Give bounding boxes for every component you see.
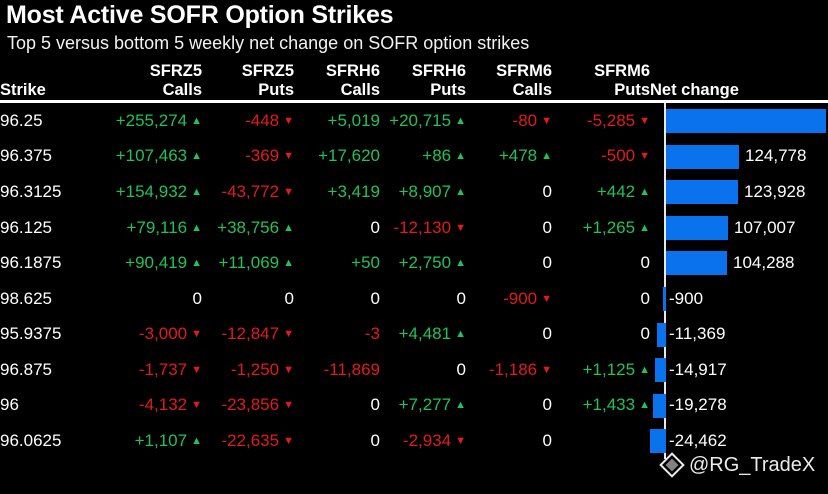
- cell-value: +107,463▲: [96, 139, 202, 175]
- cell-value: -43,772▼: [202, 174, 294, 210]
- net-change-cell: 104,288: [650, 245, 828, 281]
- arrow-up-icon: ▲: [191, 435, 202, 447]
- cell-value: 0: [466, 245, 552, 281]
- cell-number: -4,132: [139, 395, 187, 414]
- cell-value: 0: [294, 388, 380, 424]
- cell-number: 0: [371, 431, 380, 450]
- column-header-strike[interactable]: Strike: [0, 62, 96, 100]
- strike-value: 98.625: [0, 281, 96, 317]
- cell-value: +17,620: [294, 139, 380, 175]
- arrow-down-icon: ▼: [541, 364, 552, 376]
- strike-value: 96: [0, 388, 96, 424]
- column-header-line2: Calls: [294, 81, 380, 100]
- page-subtitle: Top 5 versus bottom 5 weekly net change …: [7, 33, 529, 54]
- cell-number: -1,737: [139, 360, 187, 379]
- net-change-label: -14,917: [669, 360, 727, 380]
- arrow-up-icon: ▲: [639, 399, 650, 411]
- table-header: StrikeSFRZ5CallsSFRZ5PutsSFRH6CallsSFRH6…: [0, 62, 828, 103]
- arrow-down-icon: ▼: [455, 435, 466, 447]
- sofr-strikes-table: StrikeSFRZ5CallsSFRZ5PutsSFRH6CallsSFRH6…: [0, 62, 828, 459]
- cell-number: -1,186: [489, 360, 537, 379]
- arrow-down-icon: ▼: [541, 115, 552, 127]
- arrow-down-icon: ▼: [191, 364, 202, 376]
- arrow-up-icon: ▲: [541, 150, 552, 162]
- cell-value: -1,737▼: [96, 352, 202, 388]
- cell-value: -22,635▼: [202, 423, 294, 459]
- cell-number: 0: [641, 253, 650, 272]
- cell-number: +107,463: [116, 146, 187, 165]
- cell-value: +50: [294, 245, 380, 281]
- cell-number: 0: [641, 289, 650, 308]
- arrow-up-icon: ▲: [639, 186, 650, 198]
- column-header-line1: SFRH6: [380, 62, 466, 81]
- arrow-up-icon: ▲: [455, 186, 466, 198]
- column-header-line1: [0, 62, 96, 81]
- column-header-line2: Strike: [0, 81, 96, 100]
- cell-number: +1,265: [583, 218, 635, 237]
- cell-number: -1,250: [231, 360, 279, 379]
- net-change-cell: -19,278: [650, 388, 828, 424]
- cell-value: +442▲: [552, 174, 650, 210]
- table-row[interactable]: 96.375+107,463▲-369▼+17,620+86▲+478▲-500…: [0, 139, 828, 175]
- cell-number: +8,907: [399, 182, 451, 201]
- arrow-down-icon: ▼: [541, 293, 552, 305]
- net-change-label: -11,369: [669, 324, 725, 344]
- chart-page: Most Active SOFR Option Strikes Top 5 ve…: [0, 0, 828, 494]
- cell-number: -3: [365, 324, 380, 343]
- cell-number: +11,069: [218, 253, 279, 272]
- strike-value: 96.375: [0, 139, 96, 175]
- column-header-line1: SFRZ5: [96, 62, 202, 81]
- cell-number: 0: [285, 289, 294, 308]
- cell-value: +7,277▲: [380, 388, 466, 424]
- cell-value: -23,856▼: [202, 388, 294, 424]
- cell-number: +1,107: [135, 431, 187, 450]
- net-change-bar: [655, 358, 666, 382]
- arrow-down-icon: ▼: [283, 364, 294, 376]
- strike-value: 96.25: [0, 103, 96, 139]
- cell-value: -4,132▼: [96, 388, 202, 424]
- arrow-down-icon: ▼: [191, 399, 202, 411]
- net-change-bar: [666, 251, 727, 275]
- net-change-bar-wrap: 124,778: [650, 139, 828, 175]
- cell-number: +20,715: [389, 111, 451, 130]
- cell-value: +1,265▲: [552, 210, 650, 246]
- cell-value: +478▲: [466, 139, 552, 175]
- column-header-sfrh6-puts[interactable]: SFRH6Puts: [380, 62, 466, 100]
- arrow-up-icon: ▲: [283, 257, 294, 269]
- cell-value: 0: [380, 281, 466, 317]
- cell-value: -448▼: [202, 103, 294, 139]
- cell-number: 0: [543, 431, 552, 450]
- cell-number: -5,285: [587, 111, 635, 130]
- cell-value: -11,869: [294, 352, 380, 388]
- cell-number: -22,635: [221, 431, 279, 450]
- arrow-up-icon: ▲: [639, 222, 650, 234]
- cell-value: 0: [294, 210, 380, 246]
- cell-number: +1,433: [583, 395, 635, 414]
- cell-value: 0: [380, 352, 466, 388]
- cell-value: +1,107▲: [96, 423, 202, 459]
- cell-number: +2,750: [399, 253, 451, 272]
- cell-value: +154,932▲: [96, 174, 202, 210]
- cell-number: -43,772: [221, 182, 279, 201]
- net-change-bar-wrap: -900: [650, 281, 828, 317]
- cell-value: 0: [466, 210, 552, 246]
- cell-value: -80▼: [466, 103, 552, 139]
- cell-value: +5,019: [294, 103, 380, 139]
- cell-number: 0: [457, 289, 466, 308]
- cell-value: 0: [202, 281, 294, 317]
- cell-value: 0: [466, 174, 552, 210]
- cell-value: +79,116▲: [96, 210, 202, 246]
- strike-value: 96.1875: [0, 245, 96, 281]
- cell-value: 0: [294, 423, 380, 459]
- cell-value: +1,125▲: [552, 352, 650, 388]
- strike-value: 96.875: [0, 352, 96, 388]
- cell-number: 0: [543, 182, 552, 201]
- cell-value: -369▼: [202, 139, 294, 175]
- net-change-bar-wrap: 104,288: [650, 245, 828, 281]
- table-row[interactable]: 95.9375-3,000▼-12,847▼-3+4,481▲00-11,369: [0, 317, 828, 353]
- cell-number: -900: [503, 289, 537, 308]
- cell-value: 0: [552, 317, 650, 353]
- net-change-bar-wrap: 107,007: [650, 210, 828, 246]
- cell-value: +8,907▲: [380, 174, 466, 210]
- column-header-line2: Puts: [380, 81, 466, 100]
- net-change-label: 104,288: [733, 253, 794, 273]
- cell-number: -12,847: [221, 324, 279, 343]
- cell-value: 0: [466, 317, 552, 353]
- column-header-sfrh6-calls[interactable]: SFRH6Calls: [294, 62, 380, 100]
- net-change-bar: [666, 216, 728, 240]
- cell-number: 0: [371, 395, 380, 414]
- cell-value: +2,750▲: [380, 245, 466, 281]
- cell-value: -500▼: [552, 139, 650, 175]
- cell-number: 0: [193, 289, 202, 308]
- net-change-label: 123,928: [744, 182, 805, 202]
- net-change-cell: 123,928: [650, 174, 828, 210]
- cell-value: -1,250▼: [202, 352, 294, 388]
- column-header-line2: Net change: [650, 81, 828, 100]
- net-change-label: 124,778: [745, 146, 806, 166]
- column-header-line2: Calls: [96, 81, 202, 100]
- cell-value: +255,274▲: [96, 103, 202, 139]
- arrow-up-icon: ▲: [455, 328, 466, 340]
- net-change-bar-wrap: -11,369: [650, 317, 828, 353]
- arrow-down-icon: ▼: [283, 186, 294, 198]
- net-change-cell: -11,369: [650, 317, 828, 353]
- column-header-line1: SFRM6: [466, 62, 552, 81]
- net-change-cell: 124,778: [650, 139, 828, 175]
- cell-number: +7,277: [399, 395, 451, 414]
- column-header-line1: SFRM6: [552, 62, 650, 81]
- net-change-bar: [650, 429, 666, 453]
- cell-number: 0: [543, 395, 552, 414]
- cell-value: +11,069▲: [202, 245, 294, 281]
- cell-number: +5,019: [328, 111, 380, 130]
- cell-value: +86▲: [380, 139, 466, 175]
- arrow-up-icon: ▲: [455, 115, 466, 127]
- column-header-line2: Puts: [202, 81, 294, 100]
- net-change-cell: 107,007: [650, 210, 828, 246]
- arrow-up-icon: ▲: [191, 186, 202, 198]
- net-change-label: -24,462: [669, 431, 727, 451]
- cell-value: +1,433▲: [552, 388, 650, 424]
- cell-value: -12,130▼: [380, 210, 466, 246]
- cell-number: +154,932: [116, 182, 187, 201]
- table-row[interactable]: 96.3125+154,932▲-43,772▼+3,419+8,907▲0+4…: [0, 174, 828, 210]
- arrow-down-icon: ▼: [283, 328, 294, 340]
- arrow-up-icon: ▲: [191, 115, 202, 127]
- net-change-label: 107,007: [734, 218, 795, 238]
- arrow-up-icon: ▲: [191, 222, 202, 234]
- arrow-up-icon: ▲: [455, 399, 466, 411]
- cell-value: -3,000▼: [96, 317, 202, 353]
- cell-value: 0: [552, 281, 650, 317]
- column-header-sfrm6-calls[interactable]: SFRM6Calls: [466, 62, 552, 100]
- cell-number: +1,125: [583, 360, 635, 379]
- cell-number: 0: [457, 360, 466, 379]
- column-header-line1: SFRZ5: [202, 62, 294, 81]
- cell-value: +3,419: [294, 174, 380, 210]
- cell-value: 0: [466, 423, 552, 459]
- cell-number: -23,856: [221, 395, 279, 414]
- net-change-bar-wrap: 275,195: [650, 103, 828, 139]
- net-change-cell: 275,195: [650, 103, 828, 139]
- cell-number: +79,116: [126, 218, 187, 237]
- column-header-sfrz5-puts[interactable]: SFRZ5Puts: [202, 62, 294, 100]
- net-change-bar: [657, 323, 666, 347]
- cell-value: -3: [294, 317, 380, 353]
- strike-value: 96.3125: [0, 174, 96, 210]
- net-change-bar: [666, 109, 826, 133]
- cell-number: 0: [543, 253, 552, 272]
- table-row[interactable]: 98.6250000-900▼0-900: [0, 281, 828, 317]
- table-header-row: StrikeSFRZ5CallsSFRZ5PutsSFRH6CallsSFRH6…: [0, 62, 828, 100]
- cell-number: +38,756: [217, 218, 279, 237]
- arrow-down-icon: ▼: [639, 115, 650, 127]
- strike-value: 96.125: [0, 210, 96, 246]
- table-row[interactable]: 96.1875+90,419▲+11,069▲+50+2,750▲00104,2…: [0, 245, 828, 281]
- net-change-bar-wrap: -24,462: [650, 423, 828, 459]
- cell-value: -1,186▼: [466, 352, 552, 388]
- cell-number: -500: [601, 146, 635, 165]
- cell-number: +17,620: [318, 146, 380, 165]
- column-header-line2: Puts: [552, 81, 650, 100]
- table-body: 96.25+255,274▲-448▼+5,019+20,715▲-80▼-5,…: [0, 103, 828, 459]
- cell-number: -80: [513, 111, 538, 130]
- arrow-up-icon: ▲: [639, 364, 650, 376]
- net-change-cell: -900: [650, 281, 828, 317]
- cell-value: -5,285▼: [552, 103, 650, 139]
- net-change-bar: [663, 287, 666, 311]
- cell-value: 0: [96, 281, 202, 317]
- table-row[interactable]: 96.0625+1,107▲-22,635▼0-2,934▼0-24,462: [0, 423, 828, 459]
- arrow-up-icon: ▲: [455, 257, 466, 269]
- cell-number: 0: [641, 324, 650, 343]
- cell-number: +90,419: [125, 253, 187, 272]
- cell-value: -2,934▼: [380, 423, 466, 459]
- cell-value: +4,481▲: [380, 317, 466, 353]
- cell-number: -3,000: [139, 324, 187, 343]
- net-change-bar-wrap: -19,278: [650, 388, 828, 424]
- arrow-up-icon: ▲: [455, 150, 466, 162]
- cell-value: 0: [294, 281, 380, 317]
- arrow-down-icon: ▼: [283, 150, 294, 162]
- cell-number: -2,934: [403, 431, 451, 450]
- cell-number: 0: [543, 324, 552, 343]
- net-change-cell: -24,462: [650, 423, 828, 459]
- cell-number: -448: [245, 111, 279, 130]
- cell-value: +20,715▲: [380, 103, 466, 139]
- column-header-sfrz5-calls[interactable]: SFRZ5Calls: [96, 62, 202, 100]
- column-header-line2: Calls: [466, 81, 552, 100]
- arrow-up-icon: ▲: [191, 150, 202, 162]
- net-change-cell: -14,917: [650, 352, 828, 388]
- net-change-bar: [653, 394, 666, 418]
- arrow-down-icon: ▼: [455, 222, 466, 234]
- cell-number: 0: [371, 289, 380, 308]
- cell-number: +442: [597, 182, 635, 201]
- arrow-up-icon: ▲: [283, 222, 294, 234]
- net-change-bar-wrap: -14,917: [650, 352, 828, 388]
- arrow-up-icon: ▲: [191, 257, 202, 269]
- net-change-bar-wrap: 123,928: [650, 174, 828, 210]
- cell-value: 0: [466, 388, 552, 424]
- strike-value: 96.0625: [0, 423, 96, 459]
- cell-number: +255,274: [116, 111, 187, 130]
- arrow-down-icon: ▼: [283, 115, 294, 127]
- table-row[interactable]: 96.125+79,116▲+38,756▲0-12,130▼0+1,265▲1…: [0, 210, 828, 246]
- table-row[interactable]: 96.25+255,274▲-448▼+5,019+20,715▲-80▼-5,…: [0, 103, 828, 139]
- cell-number: +50: [351, 253, 380, 272]
- cell-number: -11,869: [324, 360, 380, 379]
- cell-number: +3,419: [328, 182, 380, 201]
- cell-value: +38,756▲: [202, 210, 294, 246]
- arrow-down-icon: ▼: [283, 399, 294, 411]
- column-header-line1: [650, 62, 828, 81]
- cell-number: -12,130: [393, 218, 451, 237]
- net-change-label: -900: [669, 289, 703, 309]
- net-change-bar: [666, 180, 738, 204]
- arrow-down-icon: ▼: [191, 328, 202, 340]
- table-row[interactable]: 96-4,132▼-23,856▼0+7,277▲0+1,433▲-19,278: [0, 388, 828, 424]
- cell-number: 0: [543, 218, 552, 237]
- arrow-down-icon: ▼: [283, 435, 294, 447]
- net-change-label: -19,278: [669, 395, 727, 415]
- cell-value: +90,419▲: [96, 245, 202, 281]
- table-row[interactable]: 96.875-1,737▼-1,250▼-11,8690-1,186▼+1,12…: [0, 352, 828, 388]
- page-title: Most Active SOFR Option Strikes: [6, 1, 393, 30]
- column-header-sfrm6-puts[interactable]: SFRM6Puts: [552, 62, 650, 100]
- cell-value: 0: [552, 245, 650, 281]
- column-header-line1: SFRH6: [294, 62, 380, 81]
- arrow-down-icon: ▼: [639, 150, 650, 162]
- column-header-net-change[interactable]: Net change: [650, 62, 828, 100]
- net-change-bar: [666, 145, 739, 169]
- cell-number: +4,481: [399, 324, 451, 343]
- cell-value: [552, 423, 650, 459]
- cell-number: -369: [245, 146, 279, 165]
- cell-number: +478: [499, 146, 537, 165]
- cell-number: 0: [371, 218, 380, 237]
- cell-value: -900▼: [466, 281, 552, 317]
- cell-value: -12,847▼: [202, 317, 294, 353]
- cell-number: +86: [422, 146, 451, 165]
- strike-value: 95.9375: [0, 317, 96, 353]
